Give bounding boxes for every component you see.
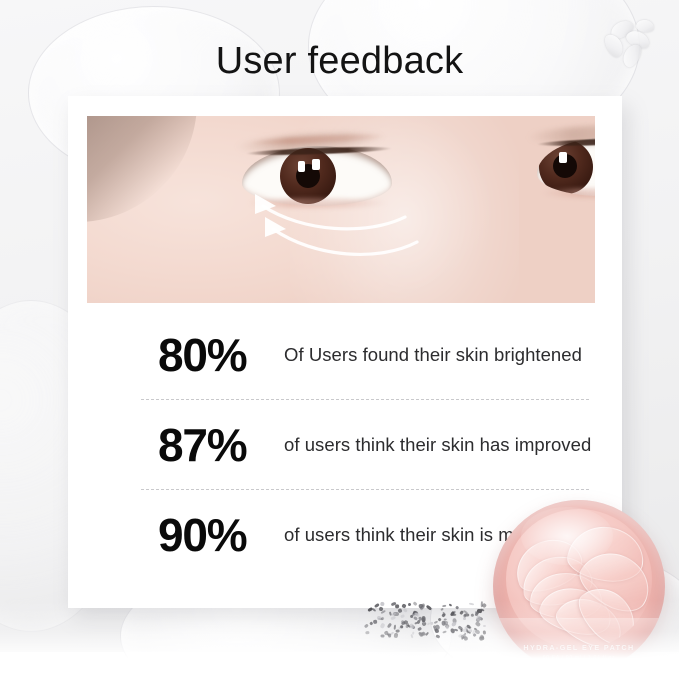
stat-percent: 87% xyxy=(158,422,280,468)
jar-highlight xyxy=(521,507,614,565)
under-eye-closeup-photo xyxy=(87,116,595,303)
stat-row: 80% Of Users found their skin brightened xyxy=(87,311,603,399)
lift-arrows-overlay xyxy=(87,116,595,303)
stat-description: Of Users found their skin brightened xyxy=(280,342,603,368)
scene-fade xyxy=(0,600,679,679)
stat-row: 87% of users think their skin has improv… xyxy=(87,401,603,489)
stat-description: of users think their skin has improved xyxy=(280,432,603,458)
page-title: User feedback xyxy=(0,38,679,84)
feedback-infographic: User feedback xyxy=(0,0,679,679)
stat-percent: 80% xyxy=(158,332,280,378)
stat-percent: 90% xyxy=(158,512,280,558)
